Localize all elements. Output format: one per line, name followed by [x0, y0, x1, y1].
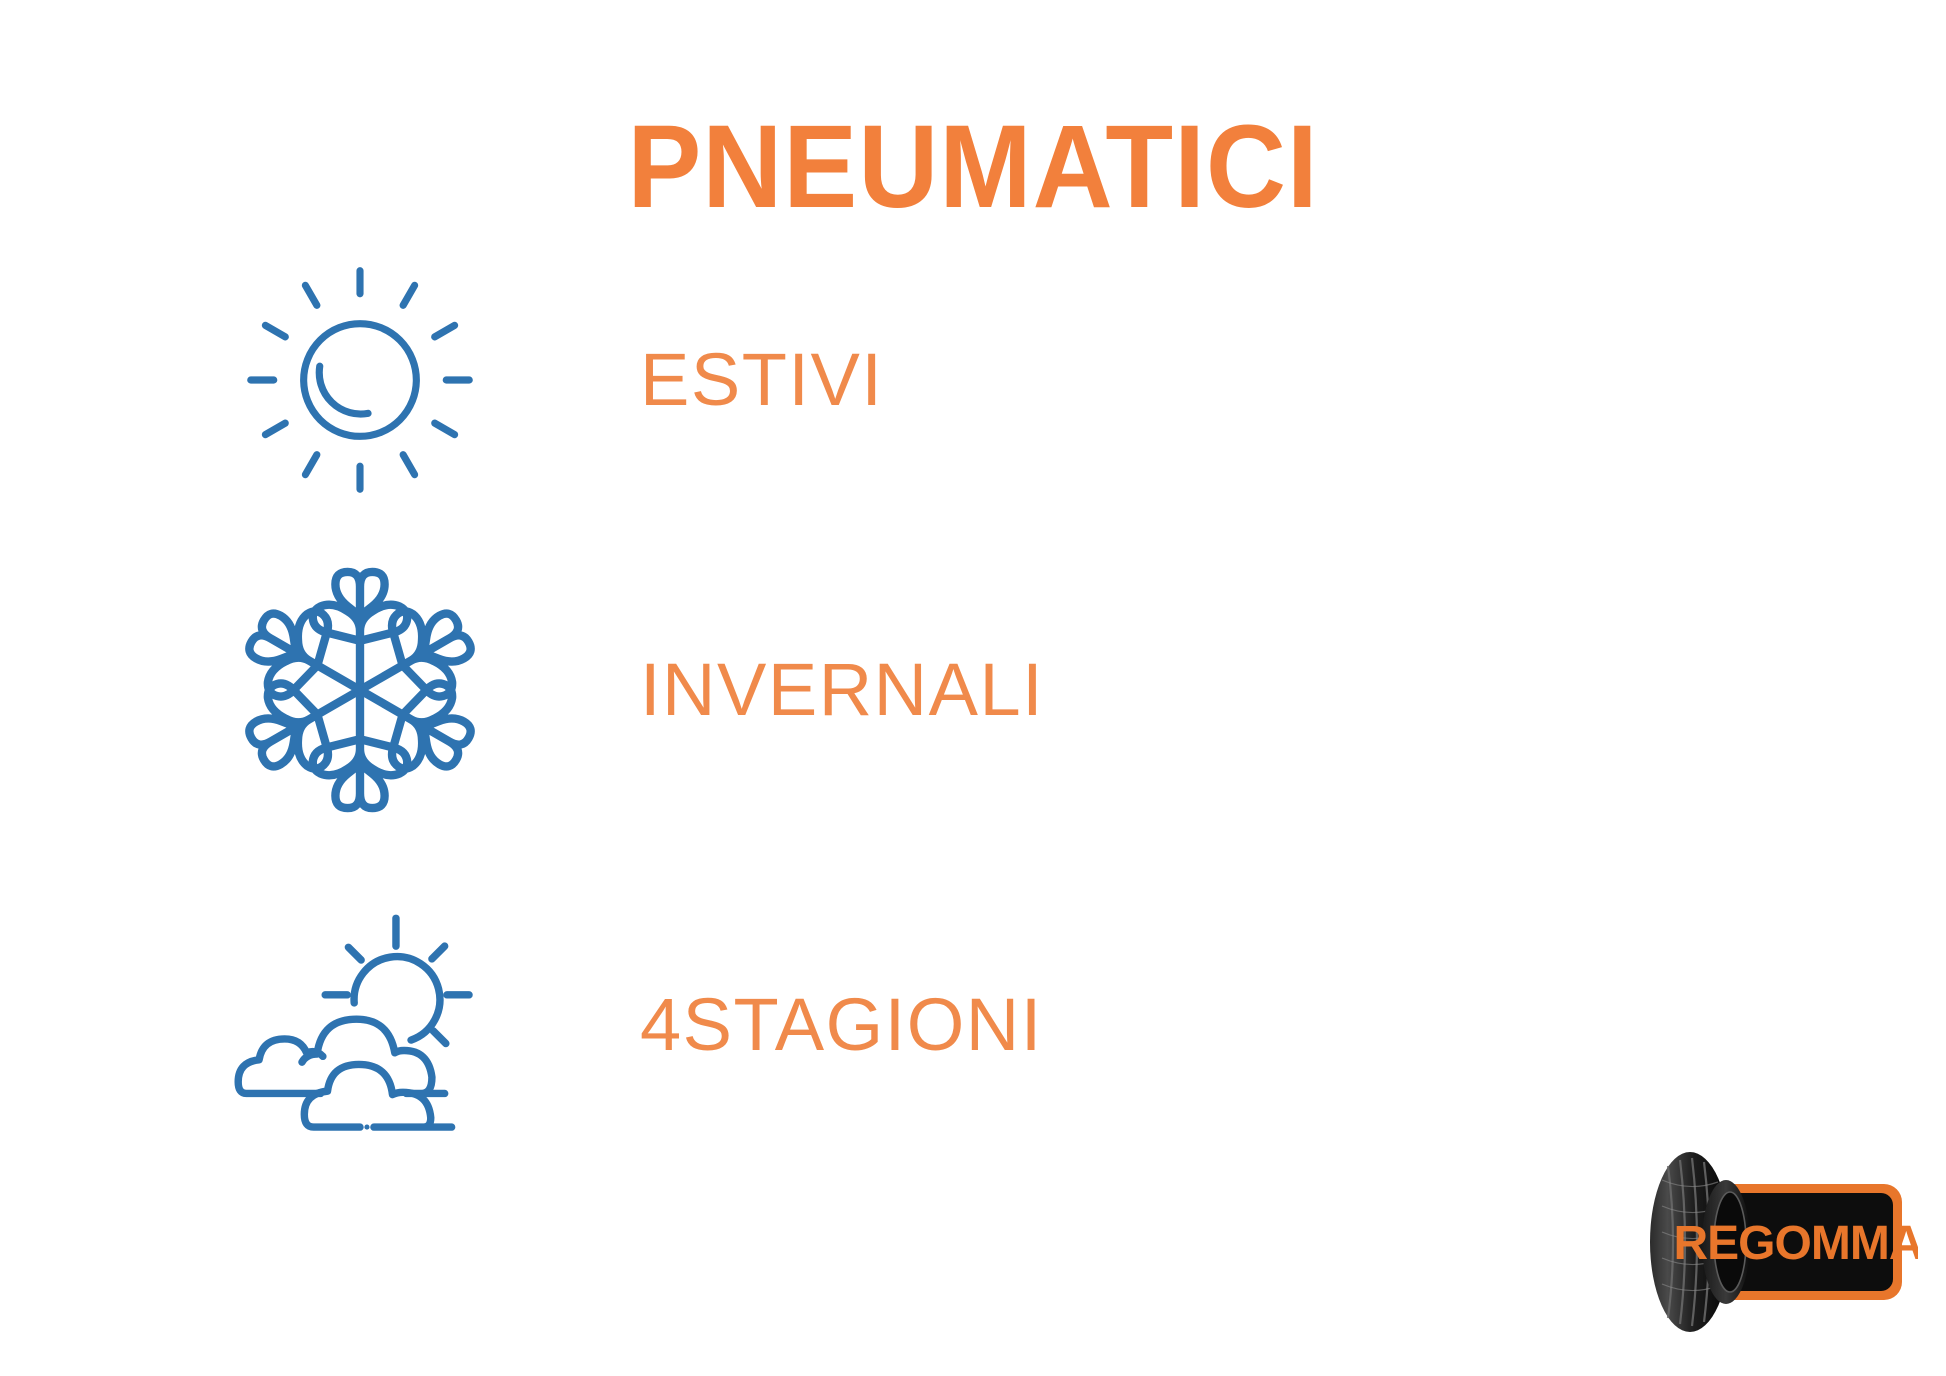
label-cell-4stagioni: 4STAGIONI — [570, 988, 1350, 1062]
sun-icon — [150, 250, 570, 510]
logo-wordmark: REGOMMA — [1674, 1217, 1918, 1270]
tyre-category-row-4stagioni: 4STAGIONI — [150, 895, 1350, 1155]
tyre-category-row-invernali: INVERNALI — [150, 560, 1350, 820]
category-label-4stagioni: 4STAGIONI — [640, 988, 1043, 1062]
category-label-estivi: ESTIVI — [640, 343, 883, 417]
poster-root: PNEUMATICI — [0, 0, 1946, 1376]
tyre-category-row-estivi: ESTIVI — [150, 250, 1350, 510]
snowflake-icon — [150, 560, 570, 820]
page-title: PNEUMATICI — [58, 108, 1887, 226]
sun-behind-clouds-icon — [150, 895, 570, 1155]
regomma-logo[interactable]: REGOMMA — [1618, 1140, 1918, 1350]
label-cell-invernali: INVERNALI — [570, 653, 1350, 727]
category-label-invernali: INVERNALI — [640, 653, 1044, 727]
label-cell-estivi: ESTIVI — [570, 343, 1350, 417]
